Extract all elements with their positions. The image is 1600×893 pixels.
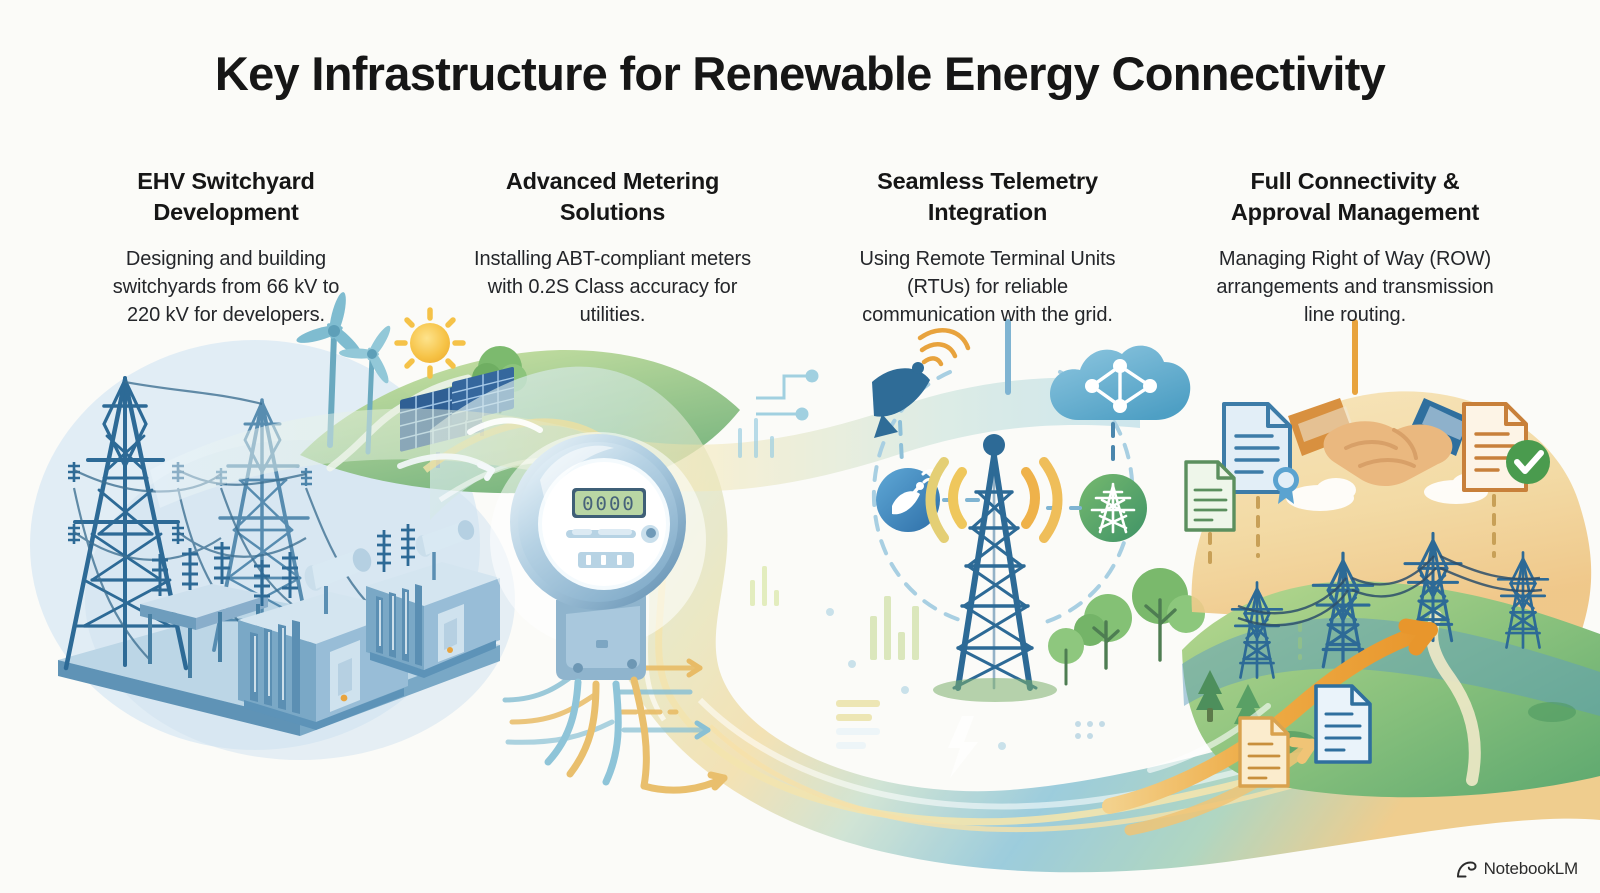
tree-icon xyxy=(472,346,527,412)
transmission-tower xyxy=(214,400,312,650)
telemetry-illustration xyxy=(872,322,1205,702)
handshake-icon xyxy=(1288,398,1470,486)
data-motifs xyxy=(740,371,1105,778)
column-full-connectivity: Full Connectivity & Approval Management … xyxy=(1205,166,1505,330)
column-body: Installing ABT-compliant meters with 0.2… xyxy=(470,245,755,330)
column-advanced-metering: Advanced Metering Solutions Installing A… xyxy=(470,166,755,330)
column-body: Using Remote Terminal Units (RTUs) for r… xyxy=(845,245,1130,330)
solar-panel-icon xyxy=(400,380,482,468)
check-badge xyxy=(1506,440,1550,484)
page-title: Key Infrastructure for Renewable Energy … xyxy=(0,48,1600,100)
document-icon-approved xyxy=(1464,404,1550,490)
tree-icon xyxy=(1234,684,1262,736)
tree-icon xyxy=(1074,594,1132,668)
column-heading: EHV Switchyard Development xyxy=(95,166,357,229)
telecom-tower xyxy=(954,434,1036,688)
satellite-dish-badge xyxy=(876,468,941,532)
energy-meter-illustration: 0000 xyxy=(490,432,724,790)
meter-display-value: 0000 xyxy=(582,493,636,515)
conservator-tank xyxy=(413,518,476,559)
cloud-icon xyxy=(1286,473,1488,511)
column-ehv-switchyard: EHV Switchyard Development Designing and… xyxy=(95,166,357,330)
solar-panel-icon xyxy=(452,367,514,436)
tree-icon xyxy=(1048,628,1084,684)
conservator-tank xyxy=(302,546,374,593)
transformer-unit xyxy=(366,518,500,678)
infographic-canvas: 0000 xyxy=(0,0,1600,893)
wind-turbine-icon xyxy=(339,323,394,452)
transmission-tower xyxy=(66,378,186,668)
seal-badge xyxy=(1273,467,1299,504)
switchyard-illustration xyxy=(30,291,740,760)
satellite-dish-icon xyxy=(872,330,968,438)
column-heading: Advanced Metering Solutions xyxy=(470,166,755,229)
pylon xyxy=(1232,582,1282,677)
column-heading: Full Connectivity & Approval Management xyxy=(1205,166,1505,229)
pylon xyxy=(1405,533,1461,640)
column-seamless-telemetry: Seamless Telemetry Integration Using Rem… xyxy=(845,166,1130,330)
pylon-badge xyxy=(1079,474,1147,542)
switchgear-unit xyxy=(140,542,268,678)
approvals-illustration xyxy=(1110,322,1600,830)
flow-arrows xyxy=(400,421,708,743)
meter-lcd-display: 0000 xyxy=(572,488,646,518)
watermark-label: NotebookLM xyxy=(1484,859,1578,879)
tree-icon xyxy=(1132,568,1205,660)
transformer-unit xyxy=(238,546,408,730)
lightning-bolt-icon xyxy=(948,716,978,778)
document-icon-floating xyxy=(1240,718,1288,786)
document-icon-floating xyxy=(1316,686,1370,762)
flow-ribbon xyxy=(150,367,1600,873)
sun-icon xyxy=(397,310,463,376)
document-icon-certified xyxy=(1224,404,1299,504)
flow-arrow-orange xyxy=(1110,626,1430,830)
pylon xyxy=(1313,553,1372,666)
column-body: Managing Right of Way (ROW) arrangements… xyxy=(1205,245,1505,330)
column-heading: Seamless Telemetry Integration xyxy=(845,166,1130,229)
tree-icon xyxy=(1196,670,1224,722)
substation-platform xyxy=(58,600,500,736)
cloud-network-icon xyxy=(1050,346,1190,420)
notebooklm-watermark: NotebookLM xyxy=(1456,859,1578,879)
pylon xyxy=(1498,552,1548,647)
illustration-layer: 0000 xyxy=(0,0,1600,893)
document-icon-draft xyxy=(1186,462,1234,530)
column-body: Designing and building switchyards from … xyxy=(95,245,357,330)
notebooklm-spiral-icon xyxy=(1456,860,1477,879)
